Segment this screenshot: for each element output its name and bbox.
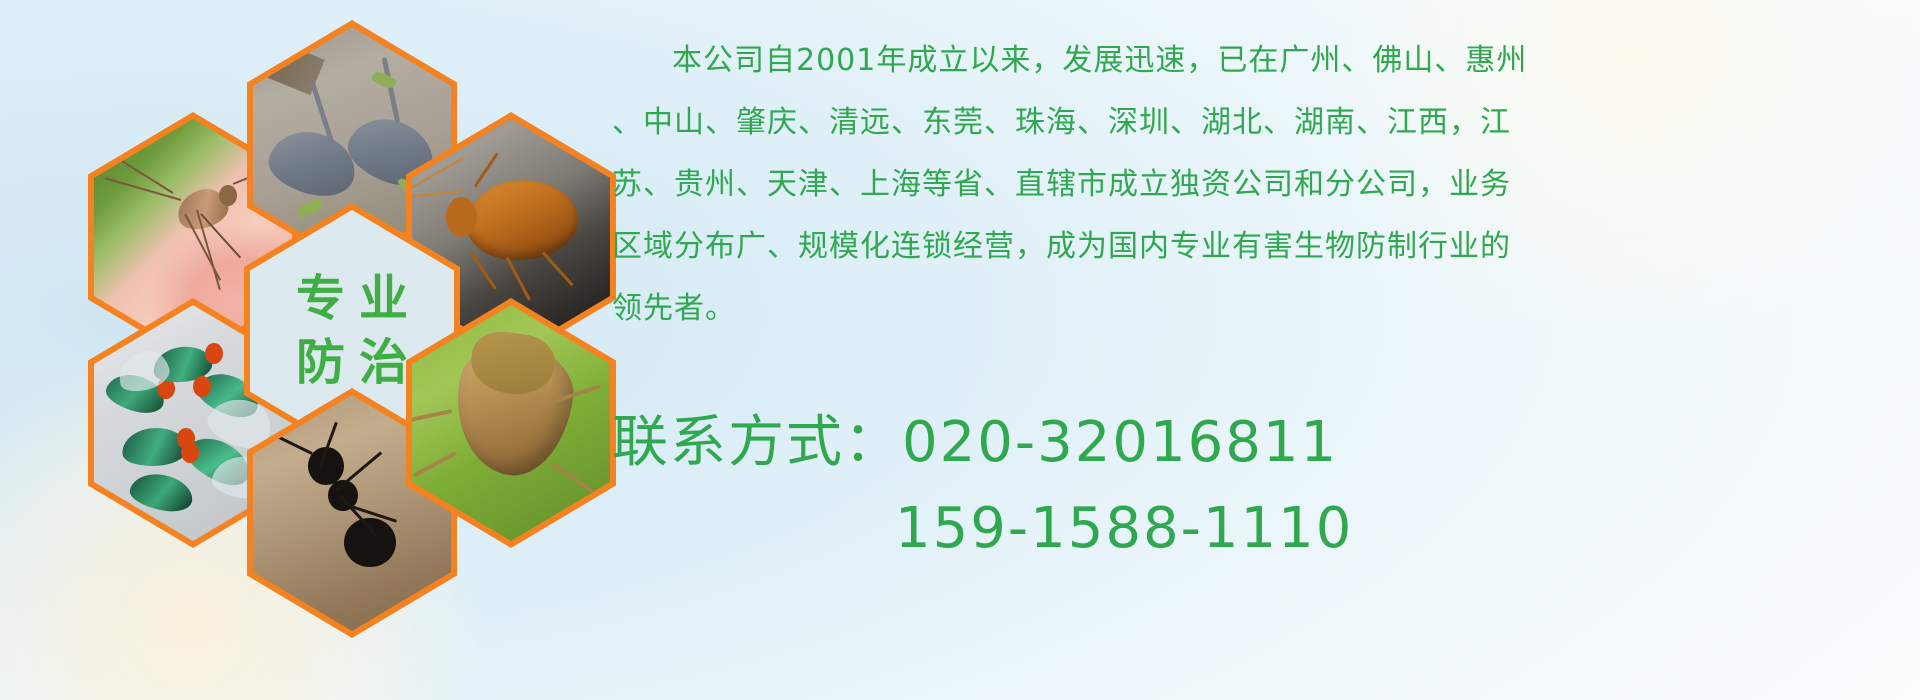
fly-head — [205, 343, 223, 364]
cockroach-leg — [542, 252, 573, 286]
badge-line-1: 专业 — [282, 270, 422, 328]
contact-phone-primary[interactable]: 联系方式：020-32016811 — [612, 400, 1902, 486]
stinkbug-photo — [412, 305, 610, 541]
fly-head — [181, 442, 199, 463]
intro-line-2: 、中山、肇庆、清远、东莞、珠海、深圳、湖北、湖南、江西，江 — [612, 96, 1902, 150]
contact-block: 联系方式：020-32016811 159-1588-1110 — [612, 400, 1902, 572]
intro-line-4: 区域分布广、规模化连锁经营，成为国内专业有害生物防制行业的 — [612, 220, 1902, 274]
rat-one — [263, 124, 362, 205]
stinkbug-leg — [549, 461, 594, 493]
cockroach-leg — [470, 252, 497, 290]
intro-line-1: 本公司自2001年成立以来，发展迅速，已在广州、佛山、惠州 — [612, 34, 1902, 88]
intro-line-5: 领先者。 — [612, 282, 1902, 336]
fly-head — [193, 376, 211, 397]
stinkbug-leg — [412, 409, 452, 424]
mosquito-head — [219, 185, 237, 206]
cockroach-antenna — [412, 190, 464, 198]
intro-paragraph: 本公司自2001年成立以来，发展迅速，已在广州、佛山、惠州 、中山、肇庆、清远、… — [612, 34, 1902, 344]
cockroach-head — [446, 197, 478, 237]
stinkbug-leg — [413, 452, 457, 478]
honeycomb-gallery: 专业 防治 — [88, 0, 588, 570]
leaf-debris — [295, 198, 323, 218]
promo-banner: 专业 防治 — [0, 0, 1920, 700]
cockroach-leg — [506, 257, 531, 300]
contact-phone-secondary[interactable]: 159-1588-1110 — [612, 486, 1902, 572]
ant-antenna — [273, 433, 313, 455]
ant-abdomen — [344, 518, 395, 568]
cockroach-body — [464, 175, 583, 266]
cockroach-leg — [474, 153, 499, 188]
badge-line-2: 防治 — [282, 334, 422, 392]
rat-two-tail — [381, 57, 400, 124]
intro-line-3: 苏、贵州、天津、上海等省、直辖市成立独资公司和分公司，业务 — [612, 158, 1902, 212]
fly — [127, 470, 196, 516]
hex-stinkbug-inner — [412, 305, 610, 541]
